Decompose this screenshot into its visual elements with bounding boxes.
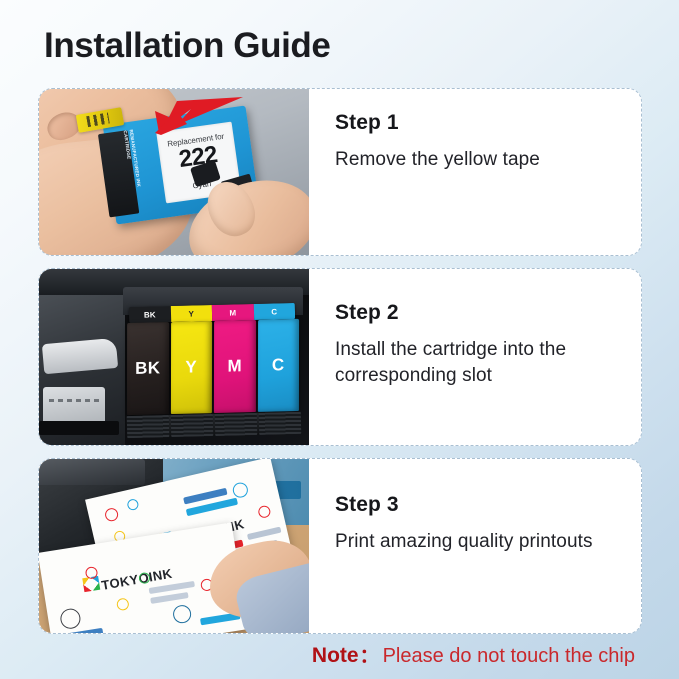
- note-text: Please do not touch the chip: [383, 645, 635, 667]
- step-card-1: REMANUFACTURED INK CARTRIDGE Replacement…: [38, 88, 642, 256]
- cartridge-slot-bk: BK: [127, 322, 169, 415]
- cartridge-base: [127, 412, 301, 438]
- step-1-text: Step 1 Remove the yellow tape: [309, 89, 641, 255]
- installation-guide-page: Installation Guide REMANUFACTURED INK CA…: [0, 0, 679, 679]
- base-segment: [127, 415, 170, 438]
- sheet-graphic-dot: [126, 498, 139, 511]
- label-strip-bk: BK: [129, 306, 171, 323]
- step-1-photo: REMANUFACTURED INK CARTRIDGE Replacement…: [39, 89, 309, 255]
- printer-lid: [39, 459, 145, 485]
- step-card-3: TOKYOINK TOKYOINK: [38, 458, 642, 634]
- step-2-photo: BK Y M C BK Y M C: [39, 269, 309, 445]
- sheet-graphic-dot: [116, 597, 130, 611]
- step-3-photo: TOKYOINK TOKYOINK: [39, 459, 309, 633]
- label-strip-c: C: [253, 303, 295, 320]
- sheet-graphic-bar: [247, 527, 281, 540]
- base-segment: [171, 414, 214, 437]
- step-2-title: Step 2: [335, 301, 621, 325]
- sheet-graphic-bar: [61, 628, 104, 633]
- step-3-description: Print amazing quality printouts: [335, 529, 621, 555]
- cartridge-slots: BK Y M C: [127, 319, 299, 415]
- label-strip-y: Y: [170, 305, 212, 322]
- red-arrow-icon: [147, 95, 243, 139]
- printer-left-panel: [39, 295, 125, 445]
- note-label: Note: [312, 644, 359, 667]
- step-card-2: BK Y M C BK Y M C: [38, 268, 642, 446]
- step-2-text: Step 2 Install the cartridge into the co…: [309, 269, 641, 445]
- sheet-graphic-dot: [172, 604, 193, 625]
- page-title: Installation Guide: [44, 26, 330, 66]
- base-segment: [215, 413, 258, 436]
- sheet-graphic-dot: [104, 507, 120, 523]
- sheet-graphic-dot: [257, 505, 271, 519]
- photo-printer-slots: BK Y M C BK Y M C: [39, 269, 309, 445]
- cartridge-slot-y: Y: [170, 321, 212, 414]
- base-segment: [259, 412, 302, 435]
- step-1-description: Remove the yellow tape: [335, 147, 621, 173]
- cartridge-slot-c: C: [257, 319, 299, 412]
- footer-note: Note：Please do not touch the chip: [312, 641, 635, 668]
- step-3-text: Step 3 Print amazing quality printouts: [309, 459, 641, 633]
- sheet-graphic-dot: [231, 481, 249, 499]
- note-colon: ：: [359, 646, 383, 667]
- photo-cartridge-in-hand: REMANUFACTURED INK CARTRIDGE Replacement…: [39, 89, 309, 255]
- step-1-title: Step 1: [335, 111, 621, 135]
- sheet-graphic-dot: [59, 607, 82, 630]
- step-2-description: Install the cartridge into the correspon…: [335, 337, 621, 388]
- step-3-title: Step 3: [335, 493, 621, 517]
- printer-dark-strip: [39, 421, 119, 435]
- sheet-graphic-bar: [150, 592, 188, 604]
- printer-roller: [42, 338, 118, 374]
- cartridge-slot-m: M: [214, 320, 256, 413]
- photo-printed-sheets: TOKYOINK TOKYOINK: [39, 459, 309, 633]
- label-strip-m: M: [212, 304, 254, 321]
